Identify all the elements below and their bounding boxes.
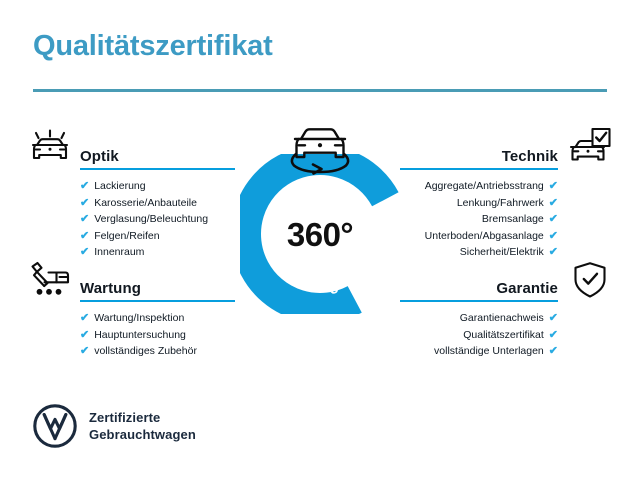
list-item: ✔Karosserie/Anbauteile <box>80 195 235 212</box>
section-technik-rule <box>400 168 558 170</box>
list-item: ✔Wartung/Inspektion <box>80 310 235 327</box>
section-technik-items: Aggregate/Antriebsstrang✔ Lenkung/Fahrwe… <box>400 178 558 261</box>
section-optik-rule <box>80 168 235 170</box>
section-garantie-rule <box>400 300 558 302</box>
check-icon: ✔ <box>80 228 89 245</box>
list-item-label: Innenraum <box>94 246 144 258</box>
section-technik-title: Technik <box>502 148 558 165</box>
check-icon: ✔ <box>80 178 89 195</box>
check-icon: ✔ <box>549 310 558 327</box>
check-icon: ✔ <box>80 327 89 344</box>
section-garantie: Garantie Garantienachweis✔ Qualitätszert… <box>400 272 558 360</box>
check-icon: ✔ <box>80 310 89 327</box>
list-item-label: Hauptuntersuchung <box>94 329 186 341</box>
section-wartung-title: Wartung <box>80 280 141 297</box>
list-item-label: Lackierung <box>94 180 145 192</box>
section-wartung-rule <box>80 300 235 302</box>
car-checkbox-icon <box>566 124 614 168</box>
badge-360-gebrauchtwagen-check: Gebrauchtwagen-Check 360° <box>226 112 414 312</box>
list-item: ✔Hauptuntersuchung <box>80 327 235 344</box>
header-divider <box>33 89 607 92</box>
list-item-label: Garantienachweis <box>460 312 544 324</box>
list-item: Sicherheit/Elektrik✔ <box>400 244 558 261</box>
section-technik: Technik Aggregate/Antriebsstrang✔ Lenkun… <box>400 140 558 261</box>
check-icon: ✔ <box>549 244 558 261</box>
list-item-label: Wartung/Inspektion <box>94 312 184 324</box>
volkswagen-logo <box>33 404 77 448</box>
list-item-label: Bremsanlage <box>482 213 544 225</box>
list-item-label: Aggregate/Antriebsstrang <box>425 180 544 192</box>
certificate-page: Qualitätszertifikat Optik ✔Lackierung ✔K… <box>0 0 640 480</box>
list-item: ✔Lackierung <box>80 178 235 195</box>
list-item-label: Karosserie/Anbauteile <box>94 197 197 209</box>
list-item-label: vollständiges Zubehör <box>94 345 197 357</box>
list-item: Qualitätszertifikat✔ <box>400 327 558 344</box>
car-rotate-360-icon <box>282 112 358 178</box>
list-item: Garantienachweis✔ <box>400 310 558 327</box>
check-icon: ✔ <box>549 178 558 195</box>
list-item: Bremsanlage✔ <box>400 211 558 228</box>
car-service-pen-icon <box>26 258 74 302</box>
check-icon: ✔ <box>549 211 558 228</box>
section-wartung-items: ✔Wartung/Inspektion ✔Hauptuntersuchung ✔… <box>80 310 235 360</box>
section-optik-title: Optik <box>80 148 119 165</box>
shield-check-icon <box>566 258 614 302</box>
list-item-label: vollständige Unterlagen <box>434 345 544 357</box>
list-item-label: Verglasung/Beleuchtung <box>94 213 208 225</box>
badge-center-label: 360° <box>226 216 414 254</box>
page-title: Qualitätszertifikat <box>33 30 273 63</box>
list-item-label: Qualitätszertifikat <box>463 329 544 341</box>
check-icon: ✔ <box>80 343 89 360</box>
car-shine-icon <box>26 124 74 168</box>
list-item-label: Unterboden/Abgasanlage <box>425 230 544 242</box>
check-icon: ✔ <box>549 195 558 212</box>
check-icon: ✔ <box>549 228 558 245</box>
check-icon: ✔ <box>80 244 89 261</box>
section-garantie-items: Garantienachweis✔ Qualitätszertifikat✔ v… <box>400 310 558 360</box>
list-item: Lenkung/Fahrwerk✔ <box>400 195 558 212</box>
section-technik-head: Technik <box>400 140 558 170</box>
footer-line-1: Zertifizierte <box>89 409 196 426</box>
section-optik-head: Optik <box>80 140 235 170</box>
list-item-label: Lenkung/Fahrwerk <box>457 197 544 209</box>
section-optik: Optik ✔Lackierung ✔Karosserie/Anbauteile… <box>80 140 235 261</box>
check-icon: ✔ <box>80 195 89 212</box>
section-garantie-title: Garantie <box>496 280 558 297</box>
check-icon: ✔ <box>549 343 558 360</box>
section-garantie-head: Garantie <box>400 272 558 302</box>
list-item: Aggregate/Antriebsstrang✔ <box>400 178 558 195</box>
list-item: ✔vollständiges Zubehör <box>80 343 235 360</box>
section-wartung: Wartung ✔Wartung/Inspektion ✔Hauptunters… <box>80 272 235 360</box>
check-icon: ✔ <box>80 211 89 228</box>
footer-text: Zertifizierte Gebrauchtwagen <box>89 409 196 443</box>
footer-line-2: Gebrauchtwagen <box>89 426 196 443</box>
list-item: ✔Innenraum <box>80 244 235 261</box>
section-optik-items: ✔Lackierung ✔Karosserie/Anbauteile ✔Verg… <box>80 178 235 261</box>
list-item-label: Felgen/Reifen <box>94 230 159 242</box>
list-item-label: Sicherheit/Elektrik <box>460 246 544 258</box>
section-wartung-head: Wartung <box>80 272 235 302</box>
list-item: ✔Felgen/Reifen <box>80 228 235 245</box>
list-item: vollständige Unterlagen✔ <box>400 343 558 360</box>
list-item: Unterboden/Abgasanlage✔ <box>400 228 558 245</box>
footer: Zertifizierte Gebrauchtwagen <box>33 404 196 448</box>
check-icon: ✔ <box>549 327 558 344</box>
list-item: ✔Verglasung/Beleuchtung <box>80 211 235 228</box>
